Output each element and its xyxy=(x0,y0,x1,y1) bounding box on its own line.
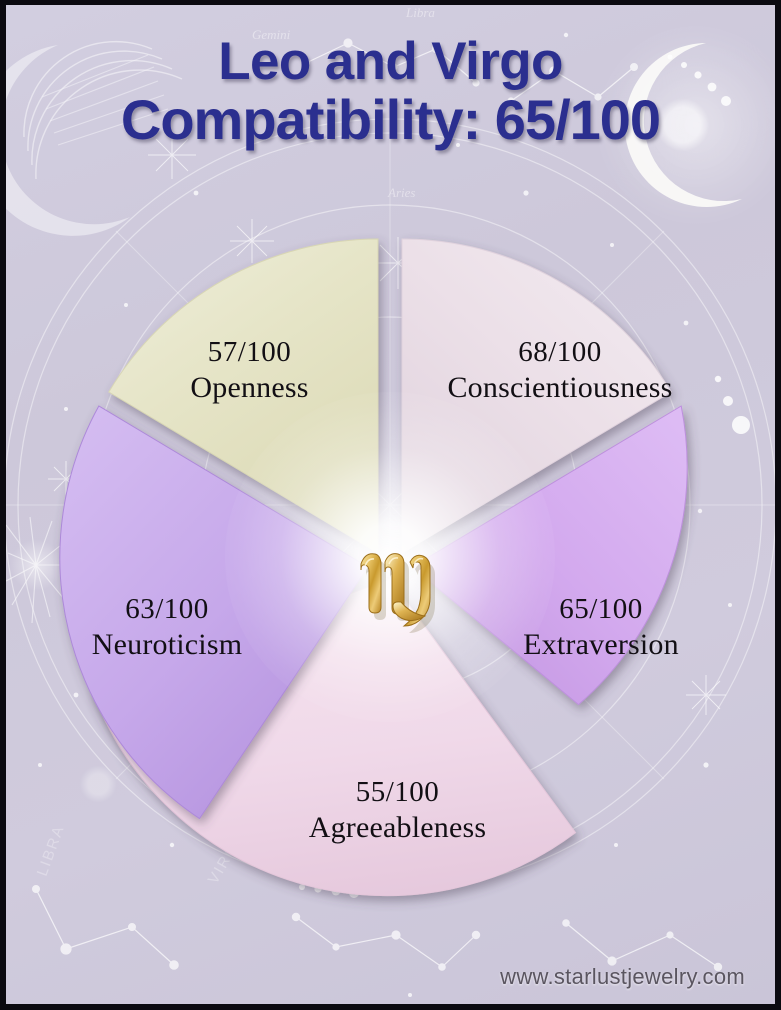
svg-text:Aries: Aries xyxy=(387,185,415,200)
slice-value-neuroticism: 63/100 xyxy=(42,592,292,627)
slice-name-extraversion: Extraversion xyxy=(470,627,732,664)
title-line-2: Compatibility: 65/100 xyxy=(0,90,781,149)
compatibility-infographic: Gemini Aries Libra LIBRA VIRGO Leo and V… xyxy=(0,0,781,1010)
slice-name-neuroticism: Neuroticism xyxy=(42,627,292,664)
slice-label-openness: 57/100 Openness xyxy=(112,335,387,407)
slice-name-openness: Openness xyxy=(112,370,387,407)
svg-text:Libra: Libra xyxy=(405,5,435,20)
slice-value-agreeableness: 55/100 xyxy=(240,775,555,810)
site-watermark: www.starlustjewelry.com xyxy=(500,964,745,990)
slice-value-extraversion: 65/100 xyxy=(470,592,732,627)
slice-value-openness: 57/100 xyxy=(112,335,387,370)
slice-label-agreeableness: 55/100 Agreeableness xyxy=(240,775,555,847)
page-title: Leo and Virgo Compatibility: 65/100 xyxy=(0,34,781,150)
slice-name-agreeableness: Agreeableness xyxy=(240,810,555,847)
slice-value-conscientiousness: 68/100 xyxy=(400,335,720,370)
title-line-1: Leo and Virgo xyxy=(218,32,563,91)
slice-label-extraversion: 65/100 Extraversion xyxy=(470,592,732,664)
slice-label-conscientiousness: 68/100 Conscientiousness xyxy=(400,335,720,407)
slice-name-conscientiousness: Conscientiousness xyxy=(400,370,720,407)
slice-label-neuroticism: 63/100 Neuroticism xyxy=(42,592,292,664)
